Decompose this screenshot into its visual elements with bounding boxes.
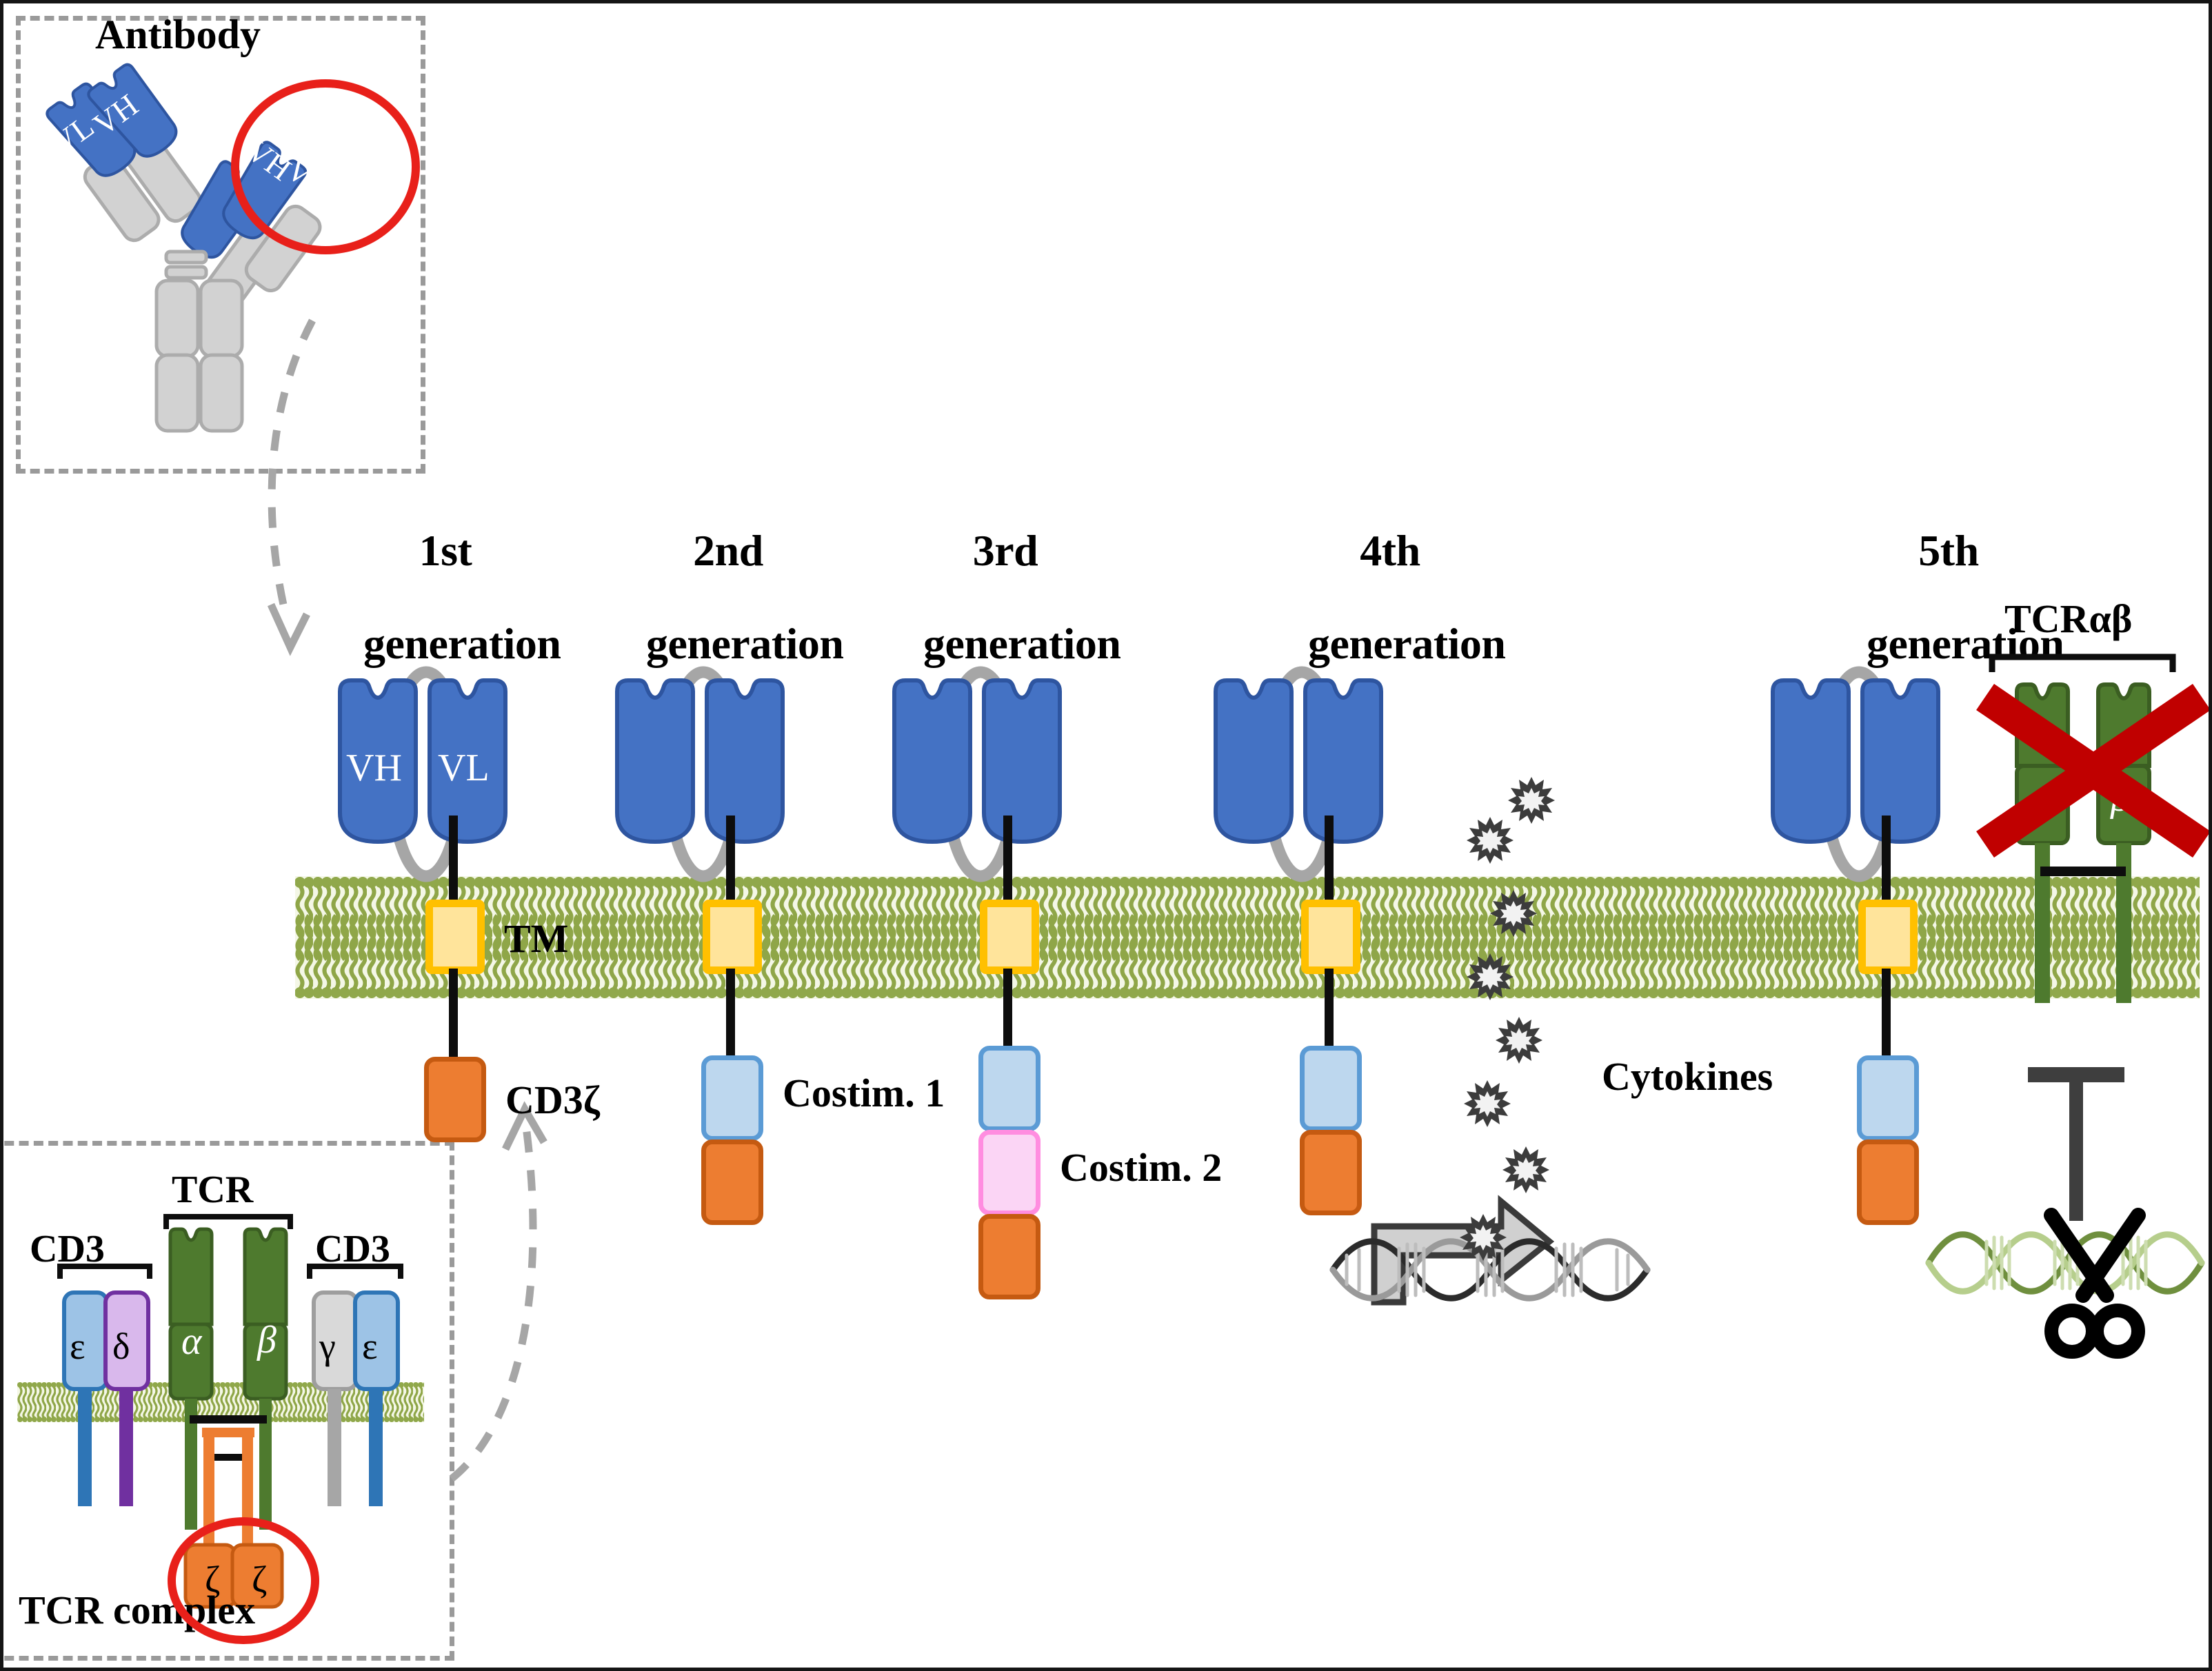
gen1-vh-label: VH <box>346 748 402 789</box>
gen2-line1: 2nd <box>693 526 763 575</box>
gen1-vl-label: VL <box>438 748 490 789</box>
tcr-beta-label: β <box>257 1320 276 1361</box>
gen1-line2: generation <box>363 619 561 668</box>
gen1-stalk-lower <box>449 969 458 1069</box>
gen2-line2: generation <box>646 619 844 668</box>
cytokines-label: Cytokines <box>1602 1055 1773 1097</box>
gen3-tm-domain <box>980 900 1039 974</box>
cytokine-burst-icon <box>1465 776 1589 1272</box>
gen4-stalk-lower <box>1325 969 1334 1057</box>
gen1-tm-domain <box>425 900 485 974</box>
scfv-highlight-circle <box>231 79 420 254</box>
gen2-stalk-lower <box>726 969 735 1065</box>
gen4-stalk-upper <box>1325 816 1334 902</box>
gen4-tm-domain <box>1301 900 1360 974</box>
gen4-costim1-domain <box>1300 1046 1362 1131</box>
gen4-cd3zeta-domain <box>1300 1130 1362 1215</box>
car-gen3-scfv <box>882 665 1082 893</box>
cd3-epsilon-left-label: ε <box>70 1327 86 1366</box>
gen1-line1: 1st <box>419 526 472 575</box>
gen5-cd3zeta-domain <box>1857 1140 1919 1225</box>
gen5-stalk-upper <box>1882 816 1891 902</box>
gen2-cd3zeta-domain <box>701 1140 763 1225</box>
gen3-stalk-upper <box>1003 816 1012 902</box>
gen5-tm-domain <box>1858 900 1918 974</box>
cd3-right-label: CD3 <box>315 1229 390 1270</box>
gen2-stalk-upper <box>726 816 735 902</box>
gen3-costim2-label: Costim. 2 <box>1060 1146 1222 1188</box>
gen3-costim1-domain <box>978 1046 1040 1131</box>
gen3-line1: 3rd <box>973 526 1038 575</box>
car-gen2-scfv <box>605 665 805 893</box>
gen4-line1: 4th <box>1360 526 1420 575</box>
gen5-costim1-domain <box>1857 1055 1919 1141</box>
gen2-tm-domain <box>703 900 762 974</box>
gen3-line2: generation <box>923 619 1121 668</box>
gen1-stalk-upper <box>449 816 458 902</box>
gen5-stalk-lower <box>1882 969 1891 1065</box>
gen4-line2: generation <box>1308 619 1506 668</box>
cd3-delta-label: δ <box>112 1327 130 1366</box>
car-gen4-scfv <box>1203 665 1403 893</box>
tcr-alpha-label: α <box>181 1321 201 1362</box>
gen1-cd3zeta-label: CD3ζ <box>505 1079 600 1121</box>
tcr-alphabeta-label: TCRαβ <box>2004 598 2132 640</box>
red-x-icon <box>1973 685 2212 857</box>
cd3-epsilon-right-label: ε <box>362 1327 378 1366</box>
cd3-gamma-label: γ <box>319 1327 336 1366</box>
gen3-cd3zeta-domain <box>978 1214 1040 1299</box>
gen1-cd3zeta-domain <box>424 1057 486 1142</box>
gen2-costim1-label: Costim. 1 <box>783 1072 945 1114</box>
gen2-costim1-domain <box>701 1055 763 1141</box>
gen3-costim2-domain <box>978 1130 1040 1215</box>
figure-canvas: Antibody <box>0 0 2212 1671</box>
zeta-highlight-circle <box>168 1517 319 1644</box>
gen3-stalk-lower <box>1003 969 1012 1057</box>
car-gen5-scfv <box>1760 665 1960 893</box>
gen5-line1: 5th <box>1918 526 1978 575</box>
tcr-bracket-label: TCR <box>172 1170 253 1211</box>
gen1-tm-label: TM <box>504 918 568 960</box>
scissors-icon <box>2029 1207 2160 1359</box>
cd3-left-label: CD3 <box>30 1229 105 1270</box>
